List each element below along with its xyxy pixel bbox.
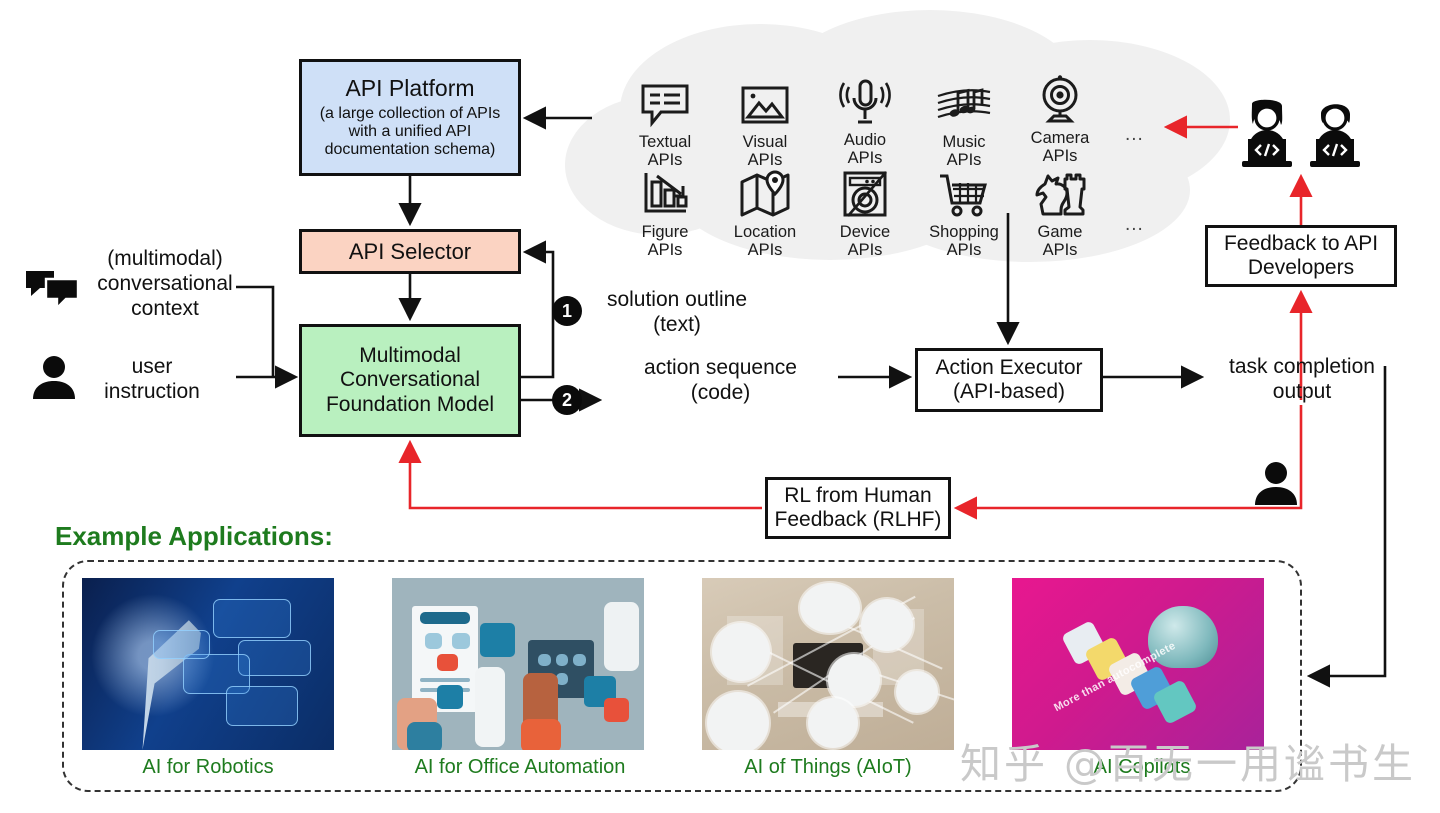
example-thumb-aiot[interactable] — [702, 578, 954, 750]
example-thumb-copilots[interactable]: More than autocomplete — [1012, 578, 1264, 750]
api-selector-box[interactable]: API Selector — [299, 229, 521, 274]
feedback-to-developers-box[interactable]: Feedback to API Developers — [1205, 225, 1397, 287]
api-item-label: Textual APIs — [617, 133, 713, 170]
example-caption-office: AI for Office Automation — [380, 756, 660, 779]
cloud-ellipsis-row1: ... — [1125, 124, 1144, 146]
api-item-textual[interactable]: Textual APIs — [617, 76, 713, 170]
api-item-camera[interactable]: Camera APIs — [1012, 72, 1108, 166]
api-platform-box[interactable]: API Platform (a large collection of APIs… — [299, 59, 521, 176]
location-api-icon — [717, 166, 813, 218]
action-executor-box[interactable]: Action Executor (API-based) — [915, 348, 1103, 412]
textual-api-icon — [617, 76, 713, 128]
api-item-label: Audio APIs — [817, 131, 913, 168]
api-item-device[interactable]: Device APIs — [817, 166, 913, 260]
edge-label-action-sequence: action sequence (code) — [633, 356, 808, 406]
api-item-visual[interactable]: Visual APIs — [717, 76, 813, 170]
shopping-api-icon — [916, 166, 1012, 218]
step-badge-1: 1 — [552, 296, 582, 326]
example-caption-aiot: AI of Things (AIoT) — [688, 756, 968, 779]
output-label-task-completion: task completion output — [1207, 355, 1397, 405]
api-item-label: Shopping APIs — [916, 223, 1012, 260]
end-user-person-icon — [1252, 460, 1300, 506]
visual-api-icon — [717, 76, 813, 128]
action-executor-label: Action Executor (API-based) — [935, 356, 1082, 404]
rlhf-label: RL from Human Feedback (RLHF) — [775, 484, 942, 532]
api-item-music[interactable]: Music APIs — [916, 76, 1012, 170]
api-selector-label: API Selector — [349, 239, 471, 264]
api-item-label: Location APIs — [717, 223, 813, 260]
api-item-figure[interactable]: Figure APIs — [617, 166, 713, 260]
foundation-model-box[interactable]: Multimodal Conversational Foundation Mod… — [299, 324, 521, 437]
api-platform-subtitle: (a large collection of APIs with a unifi… — [314, 105, 507, 160]
audio-api-icon — [817, 74, 913, 126]
api-item-label: Game APIs — [1012, 223, 1108, 260]
api-item-shopping[interactable]: Shopping APIs — [916, 166, 1012, 260]
input-label-conversational-context: (multimodal) conversational context — [60, 247, 270, 321]
feedback-to-developers-label: Feedback to API Developers — [1224, 232, 1378, 280]
example-caption-robotics: AI for Robotics — [68, 756, 348, 779]
example-thumb-robotics[interactable] — [82, 578, 334, 750]
example-thumb-office[interactable] — [392, 578, 644, 750]
foundation-model-label: Multimodal Conversational Foundation Mod… — [326, 344, 494, 416]
cloud-ellipsis-row2: ... — [1125, 214, 1144, 236]
example-applications-title: Example Applications: — [55, 521, 333, 552]
developer-female-icon — [1238, 98, 1296, 170]
input-label-user-instruction: user instruction — [62, 355, 242, 405]
step-badge-2: 2 — [552, 385, 582, 415]
rlhf-box[interactable]: RL from Human Feedback (RLHF) — [765, 477, 951, 539]
api-cloud: Textual APIs Visual APIs Au — [575, 24, 1275, 259]
game-api-icon — [1012, 166, 1108, 218]
device-api-icon — [817, 166, 913, 218]
diagram-canvas: Textual APIs Visual APIs Au — [0, 0, 1440, 813]
api-item-label: Device APIs — [817, 223, 913, 260]
api-item-label: Camera APIs — [1012, 129, 1108, 166]
figure-api-icon — [617, 166, 713, 218]
api-item-location[interactable]: Location APIs — [717, 166, 813, 260]
camera-api-icon — [1012, 72, 1108, 124]
api-platform-title: API Platform — [345, 75, 474, 101]
edge-label-solution-outline: solution outline (text) — [592, 288, 762, 338]
api-item-game[interactable]: Game APIs — [1012, 166, 1108, 260]
api-item-audio[interactable]: Audio APIs — [817, 74, 913, 168]
api-item-label: Visual APIs — [717, 133, 813, 170]
music-api-icon — [916, 76, 1012, 128]
api-item-label: Figure APIs — [617, 223, 713, 260]
watermark-text: 知乎 @百无一用谧书生 — [960, 730, 1416, 790]
api-item-label: Music APIs — [916, 133, 1012, 170]
developer-male-icon — [1306, 98, 1364, 170]
